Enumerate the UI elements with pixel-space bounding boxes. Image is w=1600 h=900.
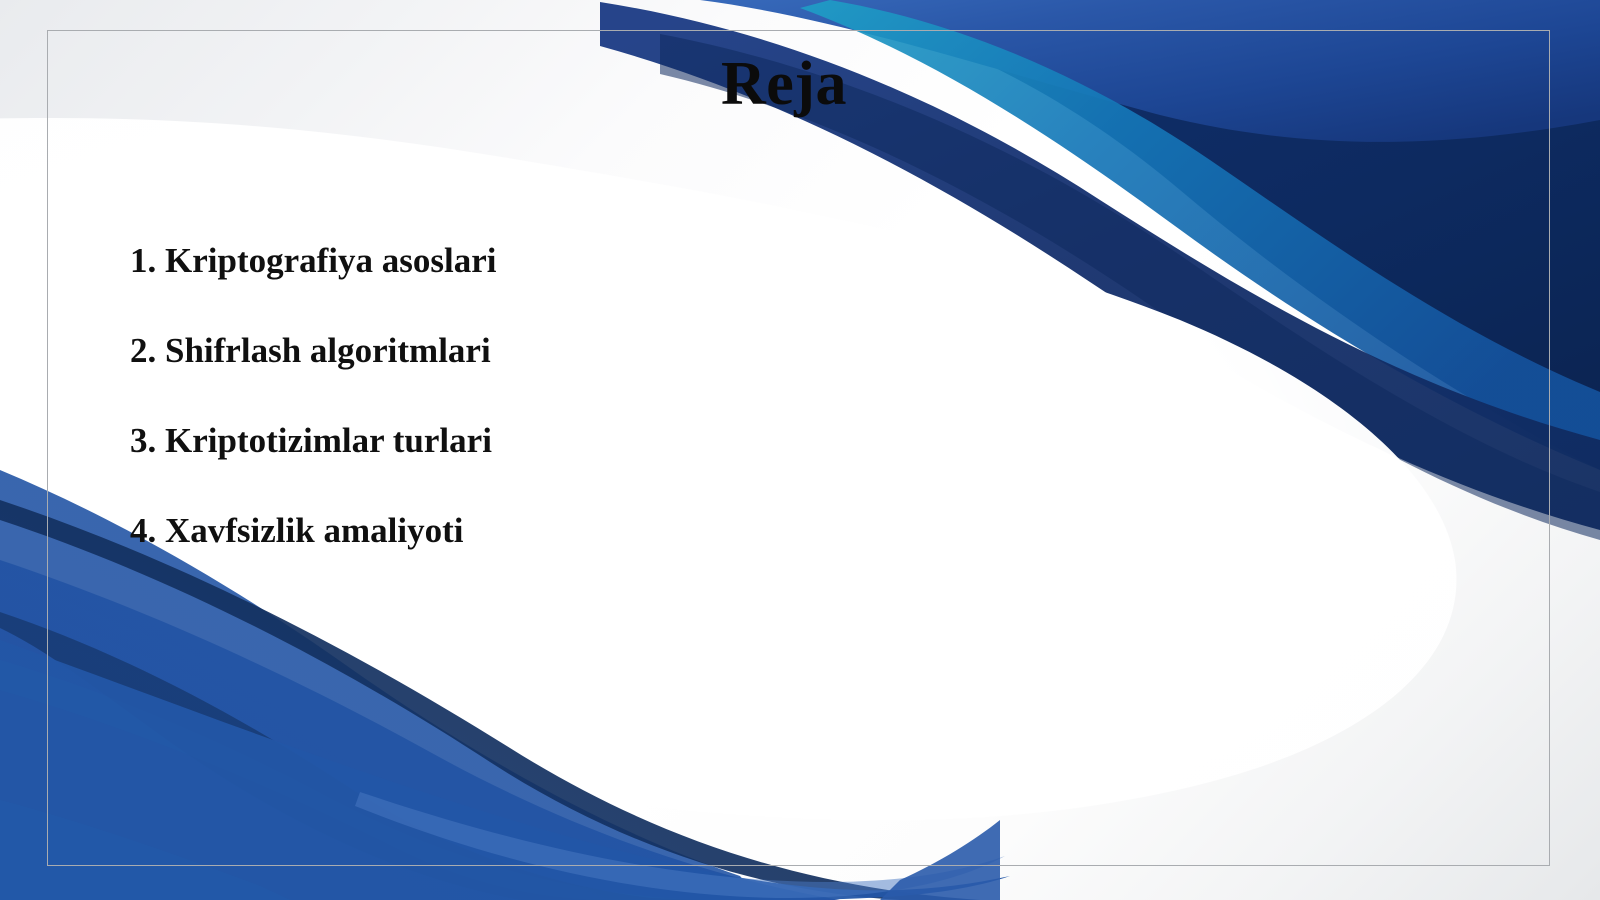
- slide-title: Reja: [0, 52, 1568, 117]
- agenda-item-4: 4. Xavfsizlik amaliyoti: [130, 513, 1030, 603]
- agenda-item-2-number: 2.: [130, 331, 156, 370]
- agenda-item-1-label: Kriptografiya asoslari: [165, 241, 497, 280]
- agenda-item-2: 2. Shifrlash algoritmlari: [130, 333, 1030, 423]
- agenda-item-4-number: 4.: [130, 511, 156, 550]
- agenda-item-4-label: Xavfsizlik amaliyoti: [165, 511, 463, 550]
- agenda-item-3-label: Kriptotizimlar turlari: [165, 421, 492, 460]
- agenda-item-1-number: 1.: [130, 241, 156, 280]
- agenda-item-1: 1. Kriptografiya asoslari: [130, 243, 1030, 333]
- agenda-item-2-label: Shifrlash algoritmlari: [165, 331, 491, 370]
- agenda-list: 1. Kriptografiya asoslari 2. Shifrlash a…: [130, 243, 1030, 603]
- agenda-item-3: 3. Kriptotizimlar turlari: [130, 423, 1030, 513]
- presentation-slide: Reja 1. Kriptografiya asoslari 2. Shifrl…: [0, 0, 1600, 900]
- agenda-item-3-number: 3.: [130, 421, 156, 460]
